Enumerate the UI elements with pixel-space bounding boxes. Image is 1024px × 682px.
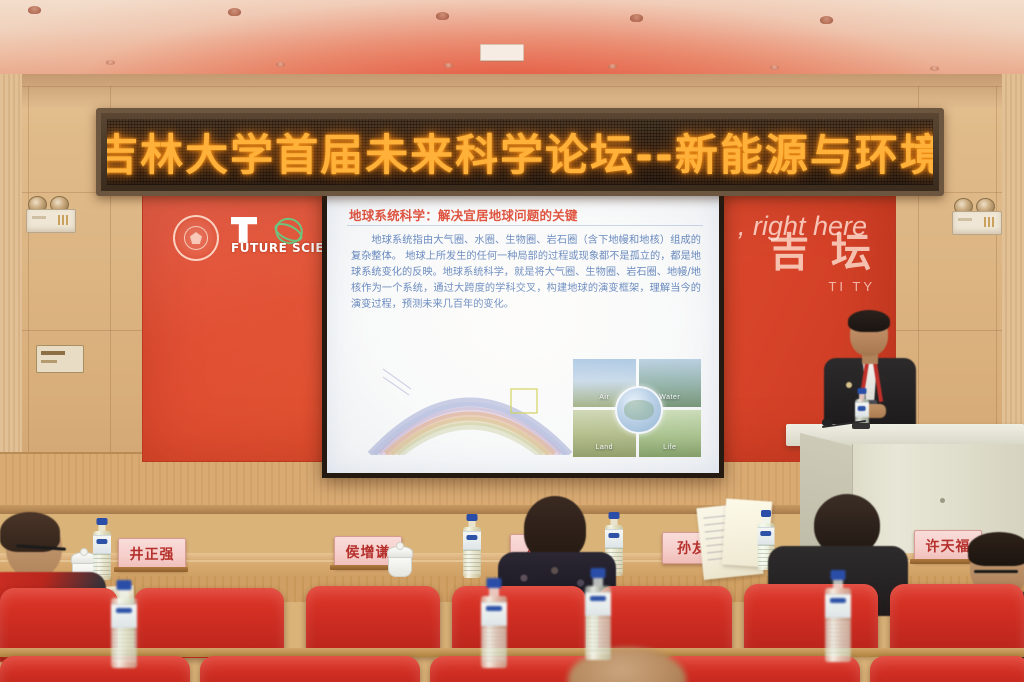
sprinkler-head <box>28 6 41 14</box>
downlight <box>770 65 779 70</box>
wall-slats-left <box>0 74 22 504</box>
auditorium-chair <box>452 586 586 656</box>
auditorium-chair-front <box>870 656 1024 682</box>
auditorium-chair <box>744 584 878 654</box>
slide-surface: 地球系统科学：解决宜居地球问题的关键 地球系统指由大气圈、水圈、生物圈、岩石圈（… <box>327 191 719 473</box>
water-bottle <box>462 514 482 578</box>
sprinkler-head <box>630 14 643 22</box>
emergency-light-icon <box>26 196 76 234</box>
placard-name: 井正强 <box>130 544 175 564</box>
backdrop-tagline: , right here <box>738 211 867 242</box>
wall-shadow <box>0 74 1024 110</box>
sprinkler-head <box>436 12 449 20</box>
placard-base <box>114 567 188 572</box>
name-placard: 井正强 <box>118 538 186 570</box>
auditorium-chair-front <box>200 656 420 682</box>
teacup <box>386 546 412 576</box>
wall-seam <box>0 86 1024 87</box>
auditorium-chair <box>598 586 732 656</box>
conference-hall-photo: FUTURE SCIENCE 吉 坛 TI TY , right here 地球… <box>0 0 1024 682</box>
water-bottle-foreground <box>480 578 508 668</box>
sprinkler-head <box>228 8 241 16</box>
ceiling <box>0 0 1024 80</box>
ceiling-vent <box>480 44 524 61</box>
eyeglasses-icon <box>974 570 1018 573</box>
backdrop-org-name-en: TI TY <box>769 279 875 294</box>
podium-microphone-icon <box>822 414 870 430</box>
downlight <box>608 64 617 69</box>
downlight <box>444 63 453 68</box>
sprinkler-head <box>820 16 833 24</box>
water-bottle-foreground <box>824 570 852 662</box>
water-bottle-foreground <box>584 568 612 660</box>
slide-title: 地球系统科学：解决宜居地球问题的关键 <box>349 205 701 224</box>
water-bottle-foreground <box>110 580 138 668</box>
backdrop-org-name: 吉 坛 TI TY <box>769 233 875 294</box>
globe-icon <box>615 386 663 434</box>
jlu-seal-icon <box>173 215 219 261</box>
auditorium-chair <box>306 586 440 656</box>
wall-seam <box>28 86 29 452</box>
led-screen: 吉林大学首届未来科学论坛--新能源与环境 <box>107 119 933 185</box>
figure-label-life: Life <box>663 444 676 451</box>
emergency-light-icon <box>952 198 1002 236</box>
downlight <box>276 62 285 67</box>
slide-divider <box>347 225 703 226</box>
auditorium-chair-front <box>0 656 190 682</box>
placard-name: 侯增谦 <box>346 542 391 562</box>
figure-label-land: Land <box>595 444 613 451</box>
led-banner-text: 吉林大学首届未来科学论坛--新能源与环境 <box>107 121 933 183</box>
earth-layers-diagram <box>365 363 575 455</box>
downlight <box>930 66 939 71</box>
wall-seam <box>996 86 997 452</box>
figure-label-air: Air <box>599 394 609 401</box>
downlight <box>106 60 115 65</box>
podium-latch <box>940 498 945 503</box>
earth-spheres-figure: Air Water Land Life <box>573 359 701 457</box>
auditorium-chair <box>890 584 1024 654</box>
led-banner: 吉林大学首届未来科学论坛--新能源与环境 <box>96 108 944 196</box>
figure-label-water: Water <box>659 394 680 401</box>
projection-screen: 地球系统科学：解决宜居地球问题的关键 地球系统指由大气圈、水圈、生物圈、岩石圈（… <box>322 186 724 478</box>
lapel-pin <box>846 382 852 388</box>
slide-body-text: 地球系统指由大气圈、水圈、生物圈、岩石圈（含下地幔和地核）组成的复杂整体。 地球… <box>351 233 701 314</box>
wall-control-panel <box>36 345 84 373</box>
